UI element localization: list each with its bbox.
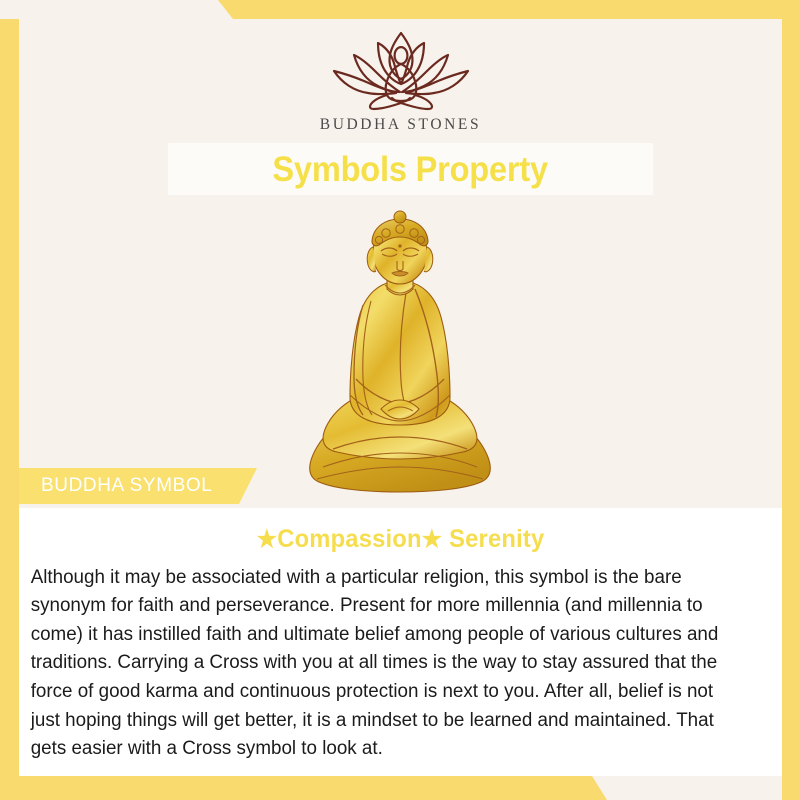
frame-left-bar	[0, 19, 19, 800]
star-icon-right: ★	[422, 526, 443, 553]
hero-image-wrap	[19, 209, 782, 509]
section-badge: BUDDHA SYMBOL	[19, 468, 257, 504]
content-panel: ★Compassion★ Serenity Although it may be…	[19, 508, 782, 776]
section-badge-label: BUDDHA SYMBOL	[41, 475, 212, 497]
content-stage: BUDDHA STONES Symbols Property	[19, 19, 782, 776]
lotus-meditation-icon	[326, 27, 476, 113]
star-icon-left: ★	[257, 526, 278, 553]
frame-top-bar	[0, 0, 800, 19]
attributes-subheading: ★Compassion★ Serenity	[38, 508, 763, 554]
frame-bottom-bar	[0, 776, 800, 800]
brand-name: BUDDHA STONES	[320, 116, 481, 134]
infographic-page: BUDDHA STONES Symbols Property	[0, 0, 800, 800]
attribute-serenity: Serenity	[449, 525, 544, 553]
page-title: Symbols Property	[273, 152, 549, 187]
frame-right-bar	[782, 0, 800, 800]
attribute-compassion: Compassion	[277, 525, 421, 553]
title-band: Symbols Property	[168, 143, 653, 195]
description-paragraph: Although it may be associated with a par…	[19, 554, 763, 764]
golden-seated-buddha-statue	[293, 209, 508, 509]
brand-logo: BUDDHA STONES	[19, 27, 782, 134]
